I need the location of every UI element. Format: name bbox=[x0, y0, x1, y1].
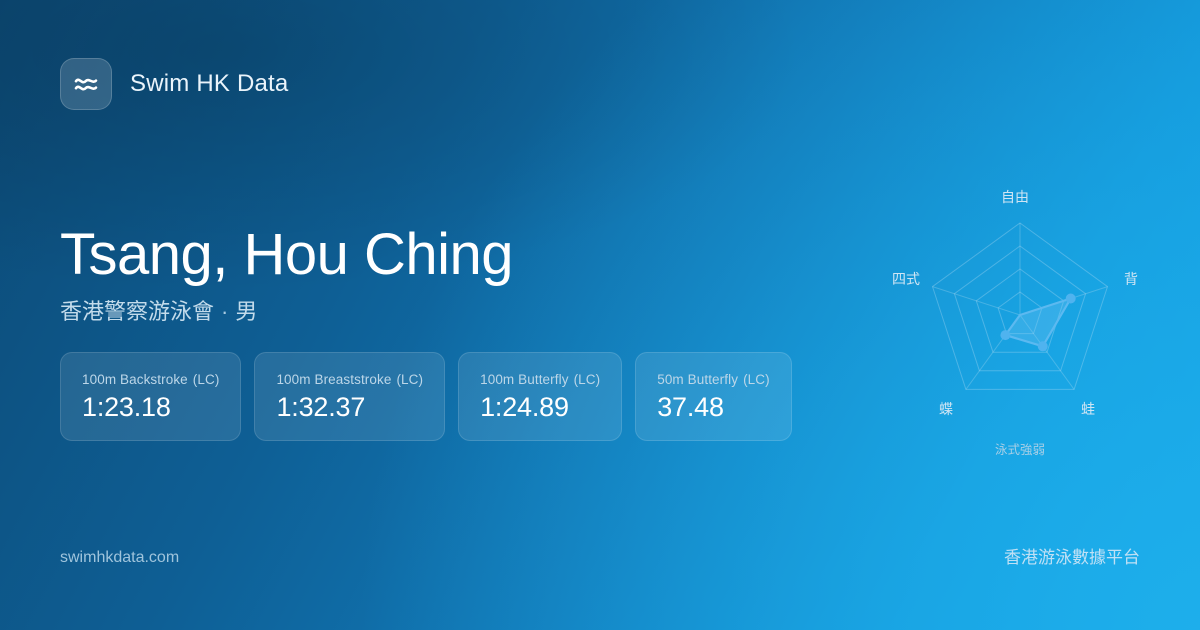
radar-caption: 泳式強弱 bbox=[860, 442, 1180, 458]
stat-card[interactable]: 100m Backstroke(LC) 1:23.18 bbox=[60, 352, 241, 441]
stat-card-label: 100m Butterfly(LC) bbox=[480, 371, 600, 388]
share-card: Swim HK Data Tsang, Hou Ching 香港警察游泳會·男 … bbox=[0, 0, 1200, 630]
stat-event-name: 100m Backstroke bbox=[82, 372, 188, 387]
stat-card[interactable]: 100m Butterfly(LC) 1:24.89 bbox=[458, 352, 622, 441]
stat-card-label: 50m Butterfly(LC) bbox=[657, 371, 770, 388]
stat-card-value: 1:32.37 bbox=[276, 391, 423, 424]
stat-card-value: 1:24.89 bbox=[480, 391, 600, 424]
stat-card-value: 37.48 bbox=[657, 391, 770, 424]
athlete-gender: 男 bbox=[235, 299, 257, 324]
stat-event-name: 50m Butterfly bbox=[657, 372, 738, 387]
radar-svg bbox=[860, 160, 1180, 480]
stat-event-name: 100m Butterfly bbox=[480, 372, 568, 387]
footer-tagline: 香港游泳數據平台 bbox=[1004, 546, 1140, 570]
brand-lockup[interactable]: Swim HK Data bbox=[60, 58, 288, 110]
hero-block: Tsang, Hou Ching 香港警察游泳會·男 bbox=[60, 222, 513, 326]
app-logo-tile bbox=[60, 58, 112, 110]
stroke-strength-radar-chart: 自由 背 蛙 蝶 四式 泳式強弱 bbox=[860, 160, 1180, 480]
radar-label-fly: 蝶 bbox=[939, 400, 953, 418]
stat-card[interactable]: 100m Breaststroke(LC) 1:32.37 bbox=[254, 352, 445, 441]
stat-card-value: 1:23.18 bbox=[82, 391, 219, 424]
stat-card-list: 100m Backstroke(LC) 1:23.18 100m Breasts… bbox=[60, 352, 792, 441]
stat-course: (LC) bbox=[743, 372, 770, 387]
stat-course: (LC) bbox=[396, 372, 423, 387]
stat-card-label: 100m Backstroke(LC) bbox=[82, 371, 219, 388]
brand-name: Swim HK Data bbox=[130, 70, 288, 98]
radar-label-back: 背 bbox=[1124, 270, 1138, 288]
stat-card[interactable]: 50m Butterfly(LC) 37.48 bbox=[635, 352, 792, 441]
radar-label-im: 四式 bbox=[892, 270, 920, 288]
radar-label-breast: 蛙 bbox=[1081, 400, 1095, 418]
athlete-meta: 香港警察游泳會·男 bbox=[60, 298, 513, 326]
stat-event-name: 100m Breaststroke bbox=[276, 372, 391, 387]
stat-card-label: 100m Breaststroke(LC) bbox=[276, 371, 423, 388]
wave-approx-icon bbox=[71, 69, 101, 99]
stat-course: (LC) bbox=[193, 372, 220, 387]
stat-course: (LC) bbox=[574, 372, 601, 387]
athlete-club: 香港警察游泳會 bbox=[60, 299, 214, 324]
radar-label-free: 自由 bbox=[1001, 188, 1029, 206]
meta-separator: · bbox=[214, 299, 235, 324]
footer-site-url[interactable]: swimhkdata.com bbox=[60, 547, 179, 569]
athlete-name: Tsang, Hou Ching bbox=[60, 222, 513, 288]
